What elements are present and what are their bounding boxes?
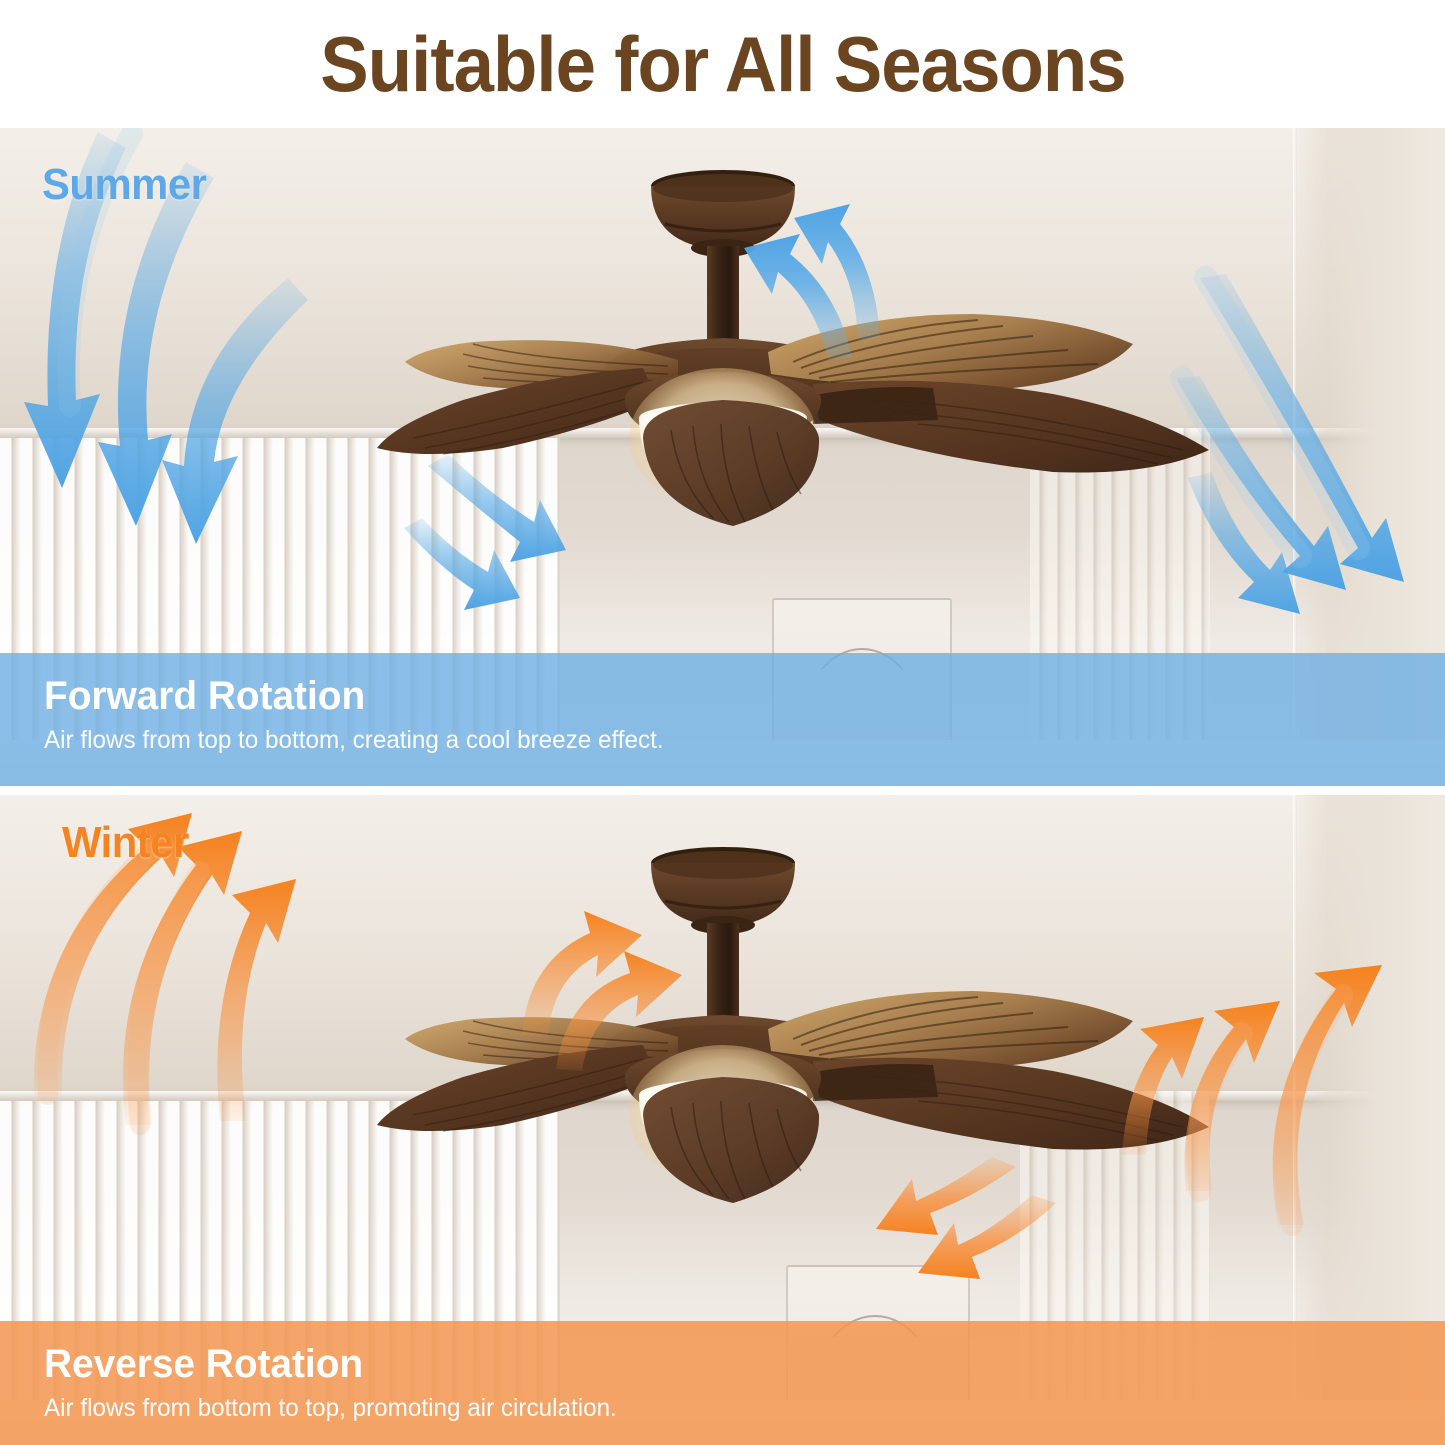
caption-bar-winter: Reverse Rotation Air flows from bottom t… xyxy=(0,1321,1445,1445)
caption-sub-winter: Air flows from bottom to top, promoting … xyxy=(44,1394,1403,1423)
caption-bar-summer: Forward Rotation Air flows from top to b… xyxy=(0,653,1445,786)
product-feature-graphic: Suitable for All Seasons xyxy=(0,0,1445,1445)
season-label-summer: Summer xyxy=(42,160,206,210)
ceiling-surface xyxy=(0,128,1445,437)
panel-summer: Summer Forward Rotation Air flows from t… xyxy=(0,128,1445,786)
page-title: Suitable for All Seasons xyxy=(320,25,1125,103)
caption-title-summer: Forward Rotation xyxy=(44,675,1403,717)
caption-title-winter: Reverse Rotation xyxy=(44,1343,1403,1385)
soffit-edge xyxy=(0,428,1445,438)
soffit-edge-winter xyxy=(0,1091,1445,1101)
season-label-winter: Winter xyxy=(62,818,189,868)
header: Suitable for All Seasons xyxy=(0,0,1445,128)
ceiling-surface-winter xyxy=(0,795,1445,1101)
caption-sub-summer: Air flows from top to bottom, creating a… xyxy=(44,726,1403,755)
panel-winter: Winter Reverse Rotation Air flows from b… xyxy=(0,795,1445,1445)
